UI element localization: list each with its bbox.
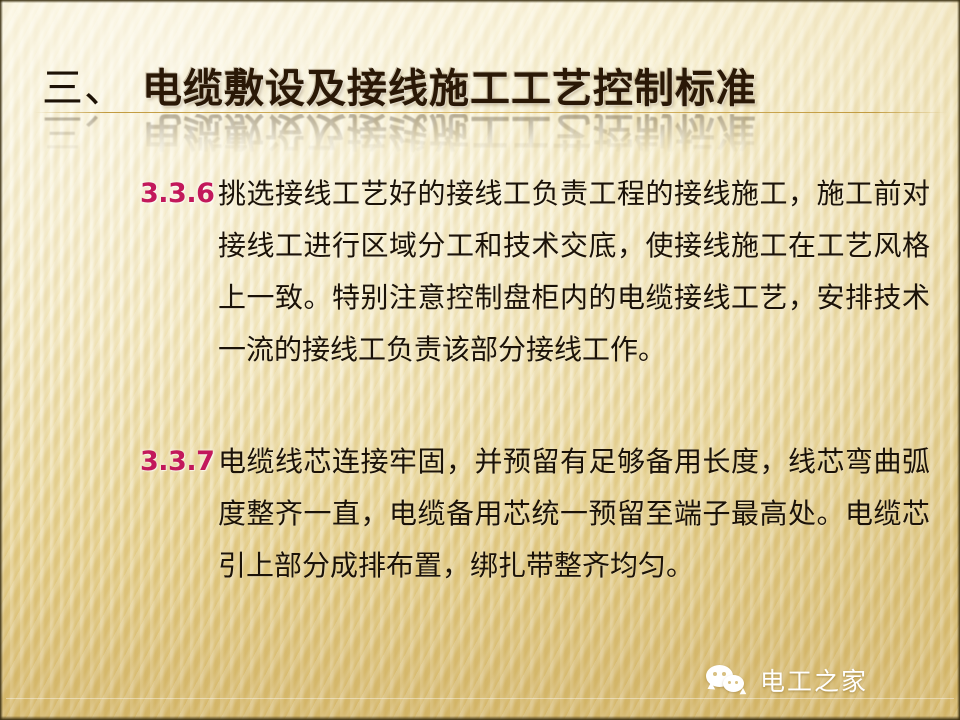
paragraph-text-336: 挑选接线工艺好的接线工负责工程的接线施工，施工前对接线工进行区域分工和技术交底，… [218,177,930,366]
slide-title-reflection: 三、电缆敷设及接线施工工艺控制标准 [42,114,942,156]
watermark-label: 电工之家 [760,662,868,698]
wechat-eye-small-right [735,681,738,684]
title-divider-rule [34,112,946,113]
slide-canvas: 三、电缆敷设及接线施工工艺控制标准 三、电缆敷设及接线施工工艺控制标准 3.3.… [0,0,960,720]
wechat-bubble-large-tail [708,682,718,692]
slide-title-reflection-prefix: 三、 [42,114,126,156]
slide-title-reflection-line: 三、电缆敷设及接线施工工艺控制标准 [42,114,942,156]
slide-title-reflection-main: 电缆敷设及接线施工工艺控制标准 [142,114,757,154]
paragraph-number-337: 3.3.7 [140,436,218,488]
paragraph-number-336: 3.3.6 [140,168,218,220]
paragraph-336: 3.3.6挑选接线工艺好的接线工负责工程的接线施工，施工前对接线工进行区域分工和… [140,168,930,376]
wechat-eye-large-left [713,672,717,676]
paragraph-337: 3.3.7电缆线芯连接牢固，并预留有足够备用长度，线芯弯曲弧度整齐一直，电缆备用… [140,436,930,592]
slide-edge-left [0,0,3,720]
wechat-bubble-small-tail [738,688,747,697]
slide-edge-hairline [6,698,954,699]
watermark: 电工之家 [706,662,868,698]
slide-title-main: 电缆敷设及接线施工工艺控制标准 [142,66,757,112]
paragraph-text-337: 电缆线芯连接牢固，并预留有足够备用长度，线芯弯曲弧度整齐一直，电缆备用芯统一预留… [218,445,930,582]
wechat-bubble-small [723,675,744,692]
slide-title-prefix: 三、 [42,64,126,112]
slide-title-line: 三、电缆敷设及接线施工工艺控制标准 [42,64,942,113]
wechat-icon [706,665,748,695]
slide-edge-bottom [0,716,960,720]
body-content: 3.3.6挑选接线工艺好的接线工负责工程的接线施工，施工前对接线工进行区域分工和… [140,168,930,592]
slide-edge-top [0,0,960,3]
wechat-eye-large-right [722,672,726,676]
wechat-eye-small-left [728,681,731,684]
wechat-bubble-large [706,665,733,687]
